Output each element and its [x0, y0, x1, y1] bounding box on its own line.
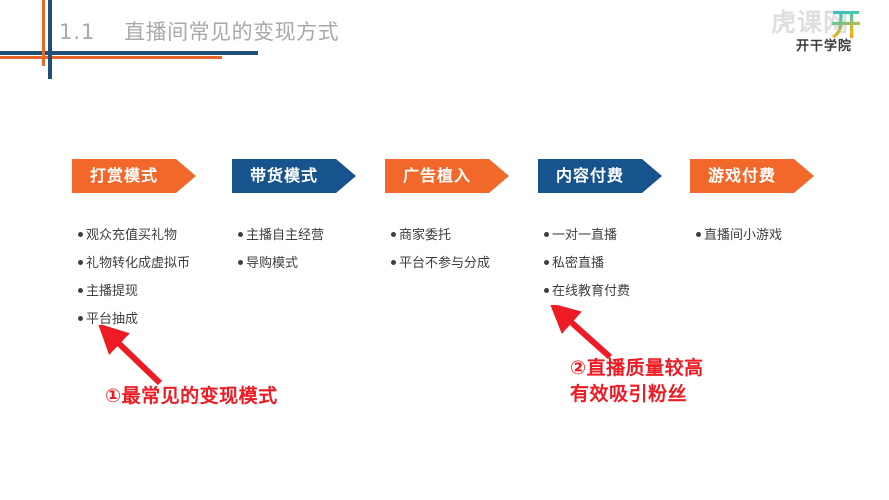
column-3-banner[interactable]: 广告植入 — [385, 159, 509, 193]
banner-arrow-tip-icon — [794, 159, 814, 193]
banner-arrow-tip-icon — [176, 159, 196, 193]
list-item-label: 在线教育付费 — [552, 284, 630, 299]
list-item-label: 主播自主经营 — [246, 228, 324, 243]
annotation-2-line-2: 有效吸引粉丝 — [570, 381, 704, 407]
list-item: 商家委托 — [391, 229, 490, 243]
column-3-list: 商家委托 平台不参与分成 — [391, 229, 490, 285]
list-item: 在线教育付费 — [544, 285, 630, 299]
monetization-columns: 打赏模式 观众充值买礼物 礼物转化成虚拟币 主播提现 平台抽成 带货模式 主播自… — [0, 0, 889, 500]
column-2-list: 主播自主经营 导购模式 — [238, 229, 324, 285]
bullet-dot-icon — [78, 260, 83, 265]
column-2: 带货模式 主播自主经营 导购模式 — [232, 159, 356, 193]
bullet-dot-icon — [544, 288, 549, 293]
column-1: 打赏模式 观众充值买礼物 礼物转化成虚拟币 主播提现 平台抽成 — [72, 159, 196, 193]
list-item: 一对一直播 — [544, 229, 630, 243]
annotation-1-line-1: ①最常见的变现模式 — [105, 383, 278, 409]
banner-arrow-tip-icon — [642, 159, 662, 193]
column-3: 广告植入 商家委托 平台不参与分成 — [385, 159, 509, 193]
list-item: 礼物转化成虚拟币 — [78, 257, 190, 271]
column-5: 游戏付费 直播间小游戏 — [690, 159, 814, 193]
slide-canvas: 1.1 直播间常见的变现方式 虎课网 开 开干学院 打赏模式 观众充值买礼物 礼… — [0, 0, 889, 500]
list-item-label: 直播间小游戏 — [704, 228, 782, 243]
bullet-dot-icon — [78, 232, 83, 237]
column-4-banner-label: 内容付费 — [538, 159, 642, 193]
annotation-1-arrow-icon — [98, 325, 178, 389]
list-item-label: 一对一直播 — [552, 228, 617, 243]
bullet-dot-icon — [544, 232, 549, 237]
list-item: 导购模式 — [238, 257, 324, 271]
list-item-label: 礼物转化成虚拟币 — [86, 256, 190, 271]
banner-arrow-tip-icon — [489, 159, 509, 193]
bullet-dot-icon — [78, 288, 83, 293]
column-1-banner-label: 打赏模式 — [72, 159, 176, 193]
column-3-banner-label: 广告植入 — [385, 159, 489, 193]
list-item-label: 主播提现 — [86, 284, 138, 299]
list-item: 私密直播 — [544, 257, 630, 271]
annotation-2-line-1: ②直播质量较高 — [570, 355, 704, 381]
list-item: 主播提现 — [78, 285, 190, 299]
list-item: 主播自主经营 — [238, 229, 324, 243]
column-5-list: 直播间小游戏 — [696, 229, 782, 257]
list-item-label: 导购模式 — [246, 256, 298, 271]
bullet-dot-icon — [391, 260, 396, 265]
list-item: 直播间小游戏 — [696, 229, 782, 243]
list-item-label: 平台不参与分成 — [399, 256, 490, 271]
column-2-banner[interactable]: 带货模式 — [232, 159, 356, 193]
bullet-dot-icon — [238, 260, 243, 265]
bullet-dot-icon — [544, 260, 549, 265]
column-4-list: 一对一直播 私密直播 在线教育付费 — [544, 229, 630, 313]
column-5-banner-label: 游戏付费 — [690, 159, 794, 193]
list-item-label: 观众充值买礼物 — [86, 228, 177, 243]
column-4-banner[interactable]: 内容付费 — [538, 159, 662, 193]
list-item: 平台不参与分成 — [391, 257, 490, 271]
list-item-label: 商家委托 — [399, 228, 451, 243]
bullet-dot-icon — [238, 232, 243, 237]
column-5-banner[interactable]: 游戏付费 — [690, 159, 814, 193]
list-item-label: 私密直播 — [552, 256, 604, 271]
column-2-banner-label: 带货模式 — [232, 159, 336, 193]
banner-arrow-tip-icon — [336, 159, 356, 193]
list-item: 观众充值买礼物 — [78, 229, 190, 243]
annotation-2: ②直播质量较高 有效吸引粉丝 — [570, 355, 704, 407]
bullet-dot-icon — [78, 316, 83, 321]
annotation-1: ①最常见的变现模式 — [105, 383, 278, 409]
bullet-dot-icon — [696, 232, 701, 237]
bullet-dot-icon — [391, 232, 396, 237]
column-4: 内容付费 一对一直播 私密直播 在线教育付费 — [538, 159, 662, 193]
column-1-banner[interactable]: 打赏模式 — [72, 159, 196, 193]
